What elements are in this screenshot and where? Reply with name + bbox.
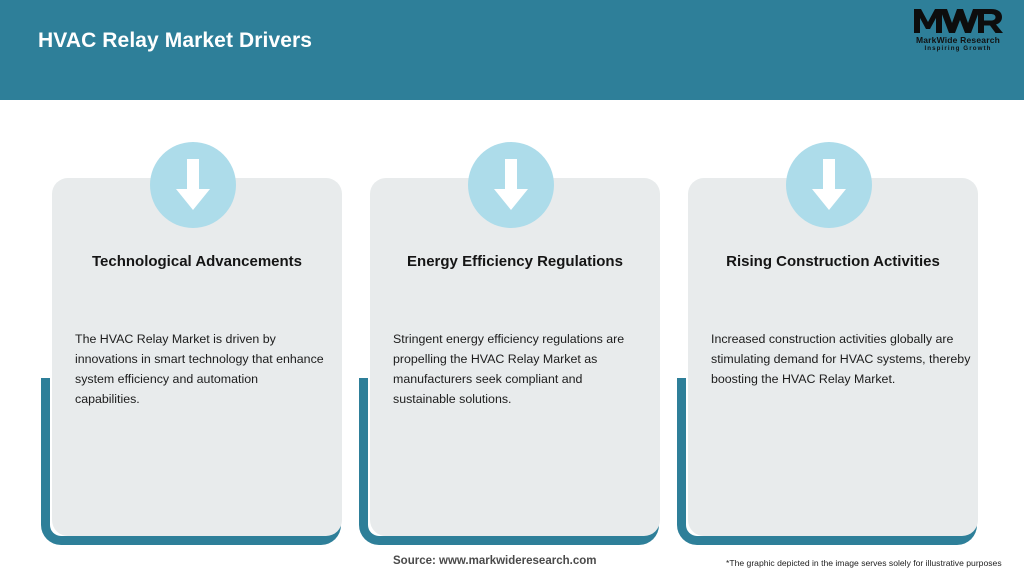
logo-company-name: MarkWide Research: [906, 35, 1010, 45]
down-arrow-icon: [150, 142, 236, 228]
driver-card-2: Energy Efficiency Regulations Stringent …: [359, 142, 659, 546]
source-label: Source: www.markwideresearch.com: [393, 555, 596, 567]
logo-tagline: Inspiring Growth: [906, 45, 1010, 53]
down-arrow-icon: [786, 142, 872, 228]
mwr-logo-icon: [906, 8, 1010, 34]
card-body-text: The HVAC Relay Market is driven by innov…: [75, 329, 325, 409]
slide-canvas: HVAC Relay Market Drivers MarkWide Resea…: [0, 0, 1024, 576]
card-title: Rising Construction Activities: [688, 252, 978, 272]
card-title: Energy Efficiency Regulations: [370, 252, 660, 272]
down-arrow-icon: [468, 142, 554, 228]
driver-card-3: Rising Construction Activities Increased…: [677, 142, 977, 546]
disclaimer-label: *The graphic depicted in the image serve…: [726, 558, 1002, 568]
header-bar: HVAC Relay Market Drivers MarkWide Resea…: [0, 0, 1024, 100]
driver-card-1: Technological Advancements The HVAC Rela…: [41, 142, 341, 546]
page-title: HVAC Relay Market Drivers: [38, 29, 312, 53]
card-body-text: Stringent energy efficiency regulations …: [393, 329, 643, 409]
card-title: Technological Advancements: [52, 252, 342, 272]
card-body-text: Increased construction activities global…: [711, 329, 973, 389]
brand-logo: MarkWide Research Inspiring Growth: [906, 8, 1010, 56]
